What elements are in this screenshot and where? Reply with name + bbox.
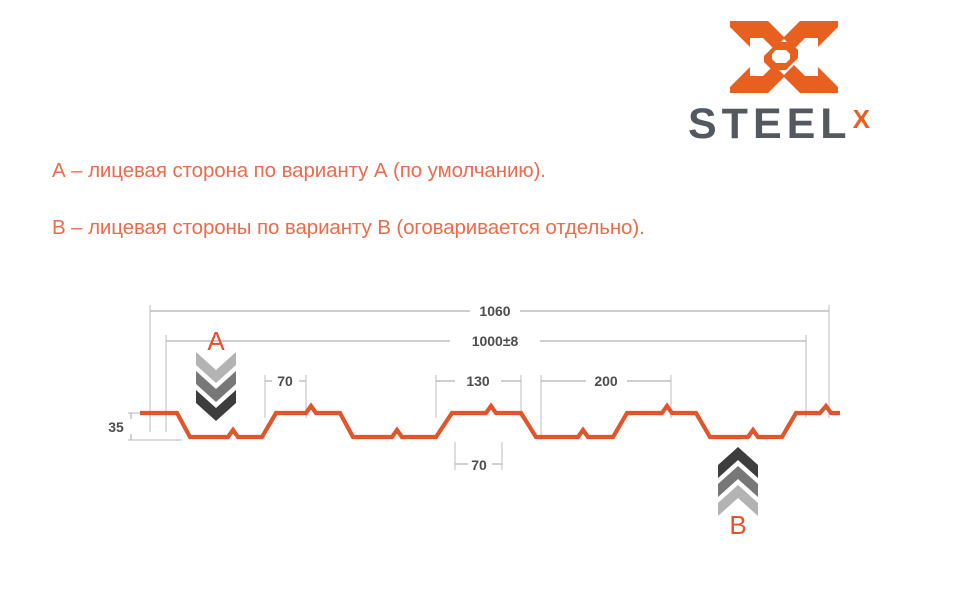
dimension-height: 35 [108,419,124,435]
profile-technical-drawing: 1060 1000±8 70 130 200 70 35 А В [0,0,970,597]
side-marker-a: А [196,326,236,421]
side-marker-a-label: А [207,326,225,356]
chevron-down-icon [196,352,236,421]
chevron-up-icon [718,447,758,516]
dimension-valley-width: 70 [471,457,487,473]
side-marker-b: В [718,447,758,540]
dimension-crest-width: 70 [277,373,293,389]
side-marker-b-label: В [729,510,746,540]
dimension-valley-pitch: 130 [466,373,490,389]
dimension-rib-pitch: 200 [594,373,618,389]
dimension-useful-width: 1000±8 [472,333,519,349]
corrugated-profile-line [140,406,840,437]
dimension-overall-width: 1060 [479,303,510,319]
